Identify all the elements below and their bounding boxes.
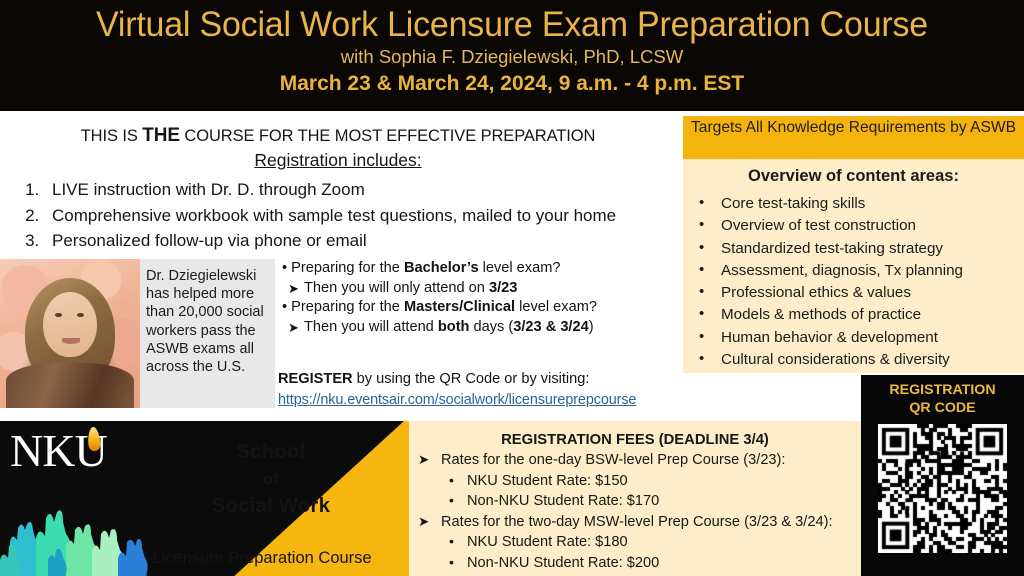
overview-title: Overview of content areas:: [683, 159, 1024, 187]
tagline: THIS IS THE COURSE FOR THE MOST EFFECTIV…: [0, 116, 676, 147]
prep-q1-bold: Bachelor’s: [404, 260, 479, 276]
bullet-icon: •: [699, 303, 704, 325]
area-label: Professional ethics & values: [721, 284, 911, 301]
fees-row-label: Non-NKU Student Rate: $200: [467, 555, 659, 571]
prep-answer-1: ➤ Then you will only attend on 3/23: [278, 279, 678, 299]
presenter-line: with Sophia F. Dziegielewski, PhD, LCSW: [0, 45, 1024, 68]
list-item: Personalized follow-up via phone or emai…: [44, 228, 676, 254]
photo-torso: [6, 363, 135, 408]
list-item: •Overview of test construction: [693, 215, 1024, 237]
area-label: Models & methods of practice: [721, 306, 921, 323]
intro-section: THIS IS THE COURSE FOR THE MOST EFFECTIV…: [0, 116, 676, 256]
area-label: Standardized test-taking strategy: [721, 240, 943, 257]
fees-group-label: Rates for the one-day BSW-level Prep Cou…: [441, 452, 785, 468]
qr-code-icon[interactable]: [878, 424, 1007, 553]
register-rest: by using the QR Code or by visiting:: [353, 371, 590, 387]
prep-question-2: • Preparing for the Masters/Clinical lev…: [286, 298, 678, 318]
bullet-icon: •: [699, 192, 704, 214]
prep-a2-post: ): [589, 319, 594, 335]
area-label: Assessment, diagnosis, Tx planning: [721, 262, 963, 279]
fees-panel: REGISTRATION FEES (DEADLINE 3/4) ➤ Rates…: [409, 421, 861, 576]
aswb-panel: Overview of content areas: •Core test-ta…: [683, 159, 1024, 373]
aswb-header: Targets All Knowledge Requirements by AS…: [683, 116, 1024, 159]
bullet-icon: •: [699, 281, 704, 303]
prep-answer-2: ➤ Then you will attend both days (3/23 &…: [278, 318, 678, 338]
prep-q1-pre: Preparing for the: [291, 260, 404, 276]
area-label: Human behavior & development: [721, 329, 938, 346]
tagline-post: COURSE FOR THE MOST EFFECTIVE PREPARATIO…: [180, 127, 595, 145]
list-item: LIVE instruction with Dr. D. through Zoo…: [44, 177, 676, 203]
school-line-1: School: [146, 439, 396, 466]
fees-row-label: NKU Student Rate: $180: [467, 534, 628, 550]
list-item: •Assessment, diagnosis, Tx planning: [693, 260, 1024, 282]
arrow-icon: ➤: [418, 450, 429, 471]
fees-row: • NKU Student Rate: $150: [409, 471, 861, 492]
prep-a1-pre: Then you will only attend on: [304, 280, 489, 296]
prep-q2-post: level exam?: [515, 299, 597, 315]
list-item: •Human behavior & development: [693, 327, 1024, 349]
school-line-2: of: [146, 466, 396, 493]
qr-title-line2: QR CODE: [861, 399, 1024, 417]
list-item: •Standardized test-taking strategy: [693, 238, 1024, 260]
presenter-photo: [0, 259, 140, 408]
fees-row: • Non-NKU Student Rate: $170: [409, 491, 861, 512]
registration-includes-text: Registration includes:: [254, 150, 421, 170]
prep-q1-post: level exam?: [479, 260, 561, 276]
registration-link[interactable]: https://nku.eventsair.com/socialwork/lic…: [278, 391, 698, 410]
fees-row-label: Non-NKU Student Rate: $170: [467, 493, 659, 509]
fees-group-2: ➤ Rates for the two-day MSW-level Prep C…: [409, 512, 861, 533]
fees-row: • Non-NKU Student Rate: $200: [409, 553, 861, 574]
tagline-pre: THIS IS: [81, 127, 143, 145]
area-label: Core test-taking skills: [721, 195, 865, 212]
prep-a1-bold: 3/23: [489, 280, 517, 296]
fees-title: REGISTRATION FEES (DEADLINE 3/4): [409, 421, 861, 450]
arrow-icon: ➤: [418, 512, 429, 533]
prep-bullet-icon: •: [282, 299, 287, 315]
register-bold: REGISTER: [278, 371, 353, 387]
fees-row: • NKU Student Rate: $180: [409, 532, 861, 553]
school-line-3: Social Work: [146, 493, 396, 520]
list-item: •Core test-taking skills: [693, 193, 1024, 215]
content-areas-list: •Core test-taking skills •Overview of te…: [683, 193, 1024, 371]
prep-a2-pre: Then you will attend: [304, 319, 438, 335]
list-item: •Models & methods of practice: [693, 304, 1024, 326]
photo-eye-right: [77, 313, 84, 317]
course-subtitle: Licensure Preparation Course: [128, 548, 396, 568]
header-banner: Virtual Social Work Licensure Exam Prepa…: [0, 0, 1024, 111]
list-item: •Cultural considerations & diversity: [693, 349, 1024, 371]
register-line: REGISTER by using the QR Code or by visi…: [278, 370, 698, 389]
bullet-icon: •: [699, 259, 704, 281]
qr-title-line1: REGISTRATION: [861, 375, 1024, 399]
bio-box: Dr. Dziegielewski has helped more than 2…: [140, 259, 275, 408]
prep-question-1: • Preparing for the Bachelor’s level exa…: [286, 259, 678, 279]
bullet-icon: •: [449, 531, 454, 552]
includes-list: LIVE instruction with Dr. D. through Zoo…: [22, 177, 676, 254]
list-item: •Professional ethics & values: [693, 282, 1024, 304]
photo-smile: [62, 338, 80, 344]
prep-q2-bold: Masters/Clinical: [404, 299, 515, 315]
registration-includes-label: Registration includes:: [0, 147, 676, 172]
arrow-icon: ➤: [288, 279, 299, 299]
nku-banner: NKU School of Social Work Licensure Prep…: [0, 421, 404, 576]
bullet-icon: •: [449, 552, 454, 573]
page-title: Virtual Social Work Licensure Exam Prepa…: [15, 4, 1008, 45]
bullet-icon: •: [699, 348, 704, 370]
bullet-icon: •: [449, 470, 454, 491]
fees-group-1: ➤ Rates for the one-day BSW-level Prep C…: [409, 450, 861, 471]
fees-group-label: Rates for the two-day MSW-level Prep Cou…: [441, 514, 833, 530]
bullet-icon: •: [699, 326, 704, 348]
prep-a2-bold1: both: [438, 319, 470, 335]
bullet-icon: •: [699, 237, 704, 259]
prep-q2-pre: Preparing for the: [291, 299, 404, 315]
event-dates: March 23 & March 24, 2024, 9 a.m. - 4 p.…: [0, 71, 1024, 96]
prep-a2-bold2: 3/23 & 3/24: [513, 319, 588, 335]
photo-face: [43, 292, 96, 358]
list-item: Comprehensive workbook with sample test …: [44, 203, 676, 229]
register-block: REGISTER by using the QR Code or by visi…: [278, 370, 698, 410]
poster-root: Virtual Social Work Licensure Exam Prepa…: [0, 0, 1024, 576]
school-name: School of Social Work: [146, 439, 396, 520]
area-label: Overview of test construction: [721, 217, 916, 234]
qr-code-box[interactable]: REGISTRATION QR CODE: [861, 375, 1024, 576]
fees-row-label: NKU Student Rate: $150: [467, 473, 628, 489]
area-label: Cultural considerations & diversity: [721, 351, 950, 368]
prep-a2-mid: days (: [469, 319, 513, 335]
photo-eye-left: [55, 313, 62, 317]
prep-bullet-icon: •: [282, 260, 287, 276]
bullet-icon: •: [699, 214, 704, 236]
arrow-icon: ➤: [288, 318, 299, 338]
tagline-emphasis: THE: [142, 125, 180, 146]
bullet-icon: •: [449, 490, 454, 511]
